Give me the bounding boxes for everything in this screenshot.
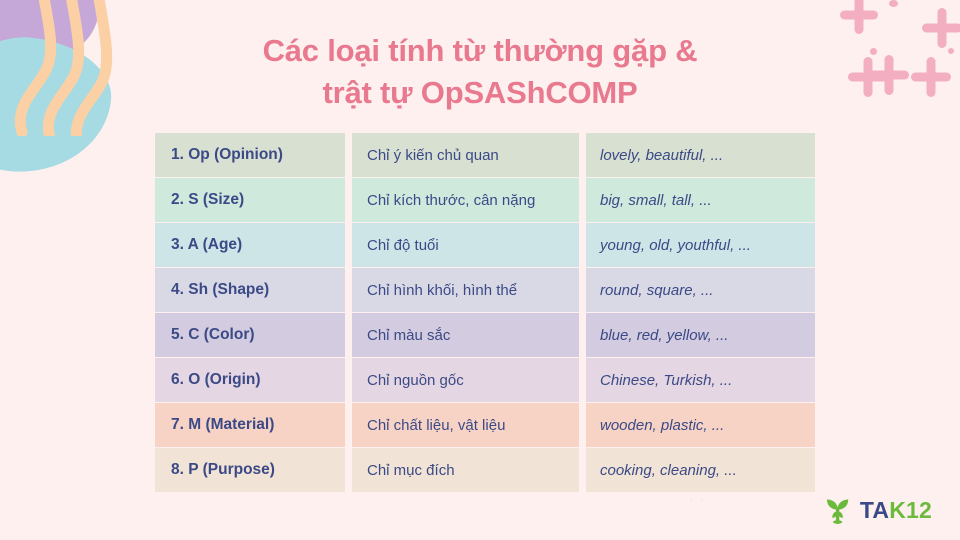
faint-watermark: - - <box>690 497 706 504</box>
adjective-order-cell: 7. M (Material) <box>155 403 345 447</box>
adjective-examples-cell: Chinese, Turkish, ... <box>586 358 815 402</box>
adjective-order-cell: 1. Op (Opinion) <box>155 133 345 177</box>
adjective-meaning-cell: Chỉ độ tuổi <box>352 223 579 267</box>
sprout-icon <box>823 496 853 524</box>
tak12-logo[interactable]: TAK12 <box>823 496 932 524</box>
adjective-meaning-cell: Chỉ ý kiến chủ quan <box>352 133 579 177</box>
logo-text-primary: TA <box>860 497 889 523</box>
adjective-meaning-cell: Chỉ màu sắc <box>352 313 579 357</box>
adjective-examples-cell: blue, red, yellow, ... <box>586 313 815 357</box>
dot-decoration-1 <box>889 0 898 7</box>
adjective-meaning-cell: Chỉ mục đích <box>352 448 579 492</box>
adjective-meaning-cell: Chỉ kích thước, cân nặng <box>352 178 579 222</box>
adjective-order-cell: 8. P (Purpose) <box>155 448 345 492</box>
table-row: 7. M (Material)Chỉ chất liệu, vật liệuwo… <box>155 403 815 447</box>
adjective-examples-cell: lovely, beautiful, ... <box>586 133 815 177</box>
table-row: 3. A (Age)Chỉ độ tuổiyoung, old, youthfu… <box>155 223 815 267</box>
adjective-meaning-cell: Chỉ nguồn gốc <box>352 358 579 402</box>
table-row: 5. C (Color)Chỉ màu sắcblue, red, yellow… <box>155 313 815 357</box>
table-row: 2. S (Size)Chỉ kích thước, cân nặngbig, … <box>155 178 815 222</box>
adjective-order-table: 1. Op (Opinion)Chỉ ý kiến chủ quanlovely… <box>155 133 815 493</box>
title-line-1: Các loại tính từ thường gặp & <box>0 30 960 72</box>
adjective-order-cell: 4. Sh (Shape) <box>155 268 345 312</box>
adjective-examples-cell: round, square, ... <box>586 268 815 312</box>
slide-title: Các loại tính từ thường gặp & trật tự Op… <box>0 30 960 114</box>
adjective-examples-cell: big, small, tall, ... <box>586 178 815 222</box>
adjective-examples-cell: young, old, youthful, ... <box>586 223 815 267</box>
table-row: 6. O (Origin)Chỉ nguồn gốcChinese, Turki… <box>155 358 815 402</box>
adjective-meaning-cell: Chỉ chất liệu, vật liệu <box>352 403 579 447</box>
table-row: 4. Sh (Shape)Chỉ hình khối, hình thểroun… <box>155 268 815 312</box>
table-row: 1. Op (Opinion)Chỉ ý kiến chủ quanlovely… <box>155 133 815 177</box>
adjective-order-cell: 2. S (Size) <box>155 178 345 222</box>
table-row: 8. P (Purpose)Chỉ mục đíchcooking, clean… <box>155 448 815 492</box>
adjective-order-cell: 3. A (Age) <box>155 223 345 267</box>
plus-decoration-3 <box>840 0 878 34</box>
adjective-order-cell: 5. C (Color) <box>155 313 345 357</box>
adjective-order-cell: 6. O (Origin) <box>155 358 345 402</box>
adjective-meaning-cell: Chỉ hình khối, hình thể <box>352 268 579 312</box>
adjective-examples-cell: wooden, plastic, ... <box>586 403 815 447</box>
logo-text-accent: K12 <box>889 497 932 523</box>
title-line-2: trật tự OpSAShCOMP <box>0 72 960 114</box>
adjective-examples-cell: cooking, cleaning, ... <box>586 448 815 492</box>
